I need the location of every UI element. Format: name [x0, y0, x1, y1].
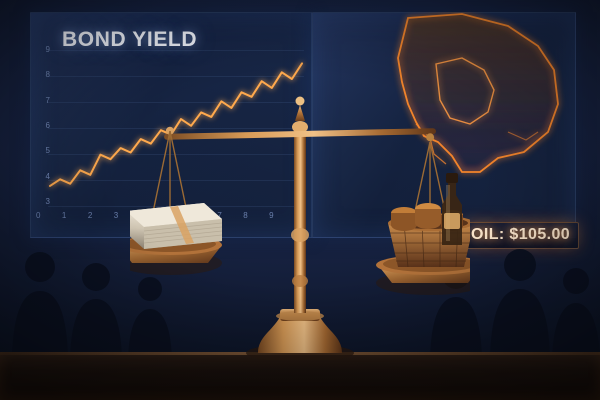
left-pan-chains: [152, 131, 188, 217]
right-pan-oil-basket: [376, 173, 470, 295]
left-pan-money: [130, 203, 222, 275]
silhouette-person: [70, 263, 122, 365]
scene-root: 9 8 7 6 5 4 3 0 1 2 3 4 5 6 7 8 9 10: [0, 0, 600, 400]
scale-base: [246, 309, 354, 360]
oil-bottle: [442, 173, 462, 245]
chart-title: BOND YIELD: [62, 28, 197, 52]
banknote-stack: [130, 203, 222, 249]
silhouette-person: [552, 268, 600, 365]
silhouette-person: [490, 249, 550, 365]
balance-scale: [130, 85, 470, 360]
silhouette-person: [12, 252, 68, 365]
scale-column: [291, 97, 309, 314]
